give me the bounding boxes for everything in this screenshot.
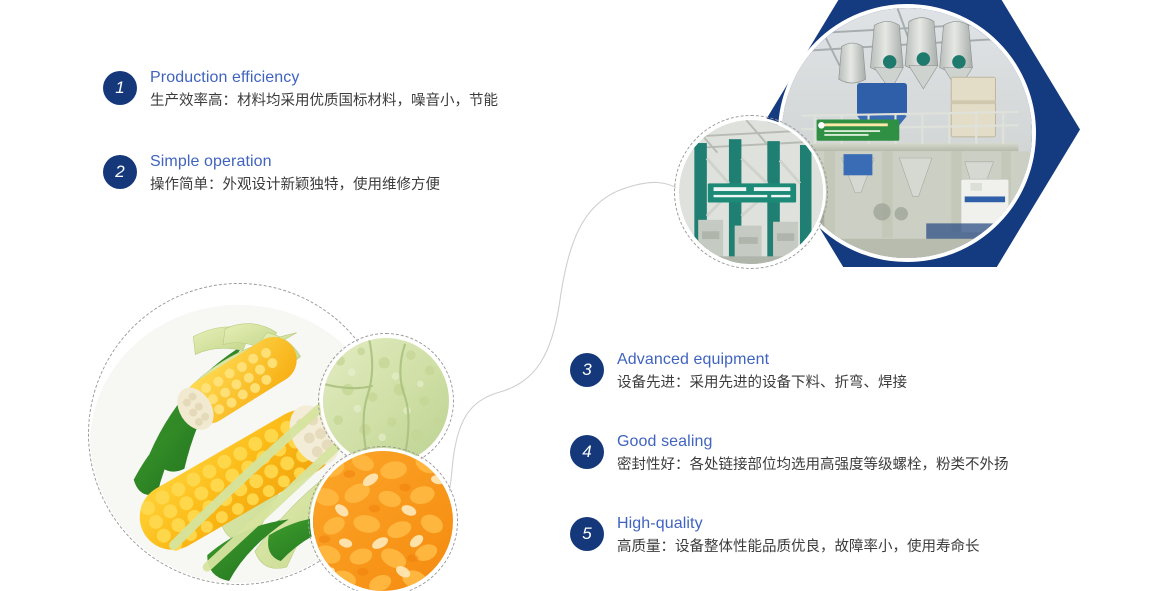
feature-description-3: 设备先进：采用先进的设备下料、折弯、焊接 xyxy=(617,372,907,394)
feature-number-badge-3: 3 xyxy=(570,353,604,387)
feature-description-2: 操作简单：外观设计新颖独特，使用维修方便 xyxy=(150,174,440,196)
feature-text-4: Good sealing 密封性好：各处链接部位均选用高强度等级螺栓，粉类不外扬 xyxy=(617,432,1009,476)
feature-title-5: High-quality xyxy=(617,514,980,534)
feature-title-1: Production efficiency xyxy=(150,68,498,88)
feature-title-4: Good sealing xyxy=(617,432,1009,452)
feature-number-badge-1: 1 xyxy=(103,71,137,105)
grain-mill-equipment-photo xyxy=(676,117,826,267)
feature-description-4: 密封性好：各处链接部位均选用高强度等级螺栓，粉类不外扬 xyxy=(617,454,1009,476)
feature-title-2: Simple operation xyxy=(150,152,440,172)
feature-text-3: Advanced equipment 设备先进：采用先进的设备下料、折弯、焊接 xyxy=(617,350,907,394)
corn-grits-photo xyxy=(310,448,456,591)
feature-text-5: High-quality 高质量：设备整体性能品质优良，故障率小，使用寿命长 xyxy=(617,514,980,558)
feature-number-badge-5: 5 xyxy=(570,517,604,551)
feature-item-1: 1 Production efficiency 生产效率高：材料均采用优质国标材… xyxy=(103,68,623,112)
feature-item-4: 4 Good sealing 密封性好：各处链接部位均选用高强度等级螺栓，粉类不… xyxy=(570,432,1130,476)
infographic-canvas: 1 Production efficiency 生产效率高：材料均采用优质国标材… xyxy=(0,0,1154,591)
feature-list-right: 3 Advanced equipment 设备先进：采用先进的设备下料、折弯、焊… xyxy=(570,350,1130,558)
feature-number-badge-2: 2 xyxy=(103,155,137,189)
feature-title-3: Advanced equipment xyxy=(617,350,907,370)
feature-description-1: 生产效率高：材料均采用优质国标材料，噪音小，节能 xyxy=(150,90,498,112)
feature-text-1: Production efficiency 生产效率高：材料均采用优质国标材料，… xyxy=(150,68,498,112)
feature-item-2: 2 Simple operation 操作简单：外观设计新颖独特，使用维修方便 xyxy=(103,152,623,196)
feature-description-5: 高质量：设备整体性能品质优良，故障率小，使用寿命长 xyxy=(617,536,980,558)
feature-text-2: Simple operation 操作简单：外观设计新颖独特，使用维修方便 xyxy=(150,152,440,196)
feature-number-badge-4: 4 xyxy=(570,435,604,469)
feature-list-left: 1 Production efficiency 生产效率高：材料均采用优质国标材… xyxy=(103,68,623,196)
feature-item-5: 5 High-quality 高质量：设备整体性能品质优良，故障率小，使用寿命长 xyxy=(570,514,1130,558)
feature-item-3: 3 Advanced equipment 设备先进：采用先进的设备下料、折弯、焊… xyxy=(570,350,1130,394)
